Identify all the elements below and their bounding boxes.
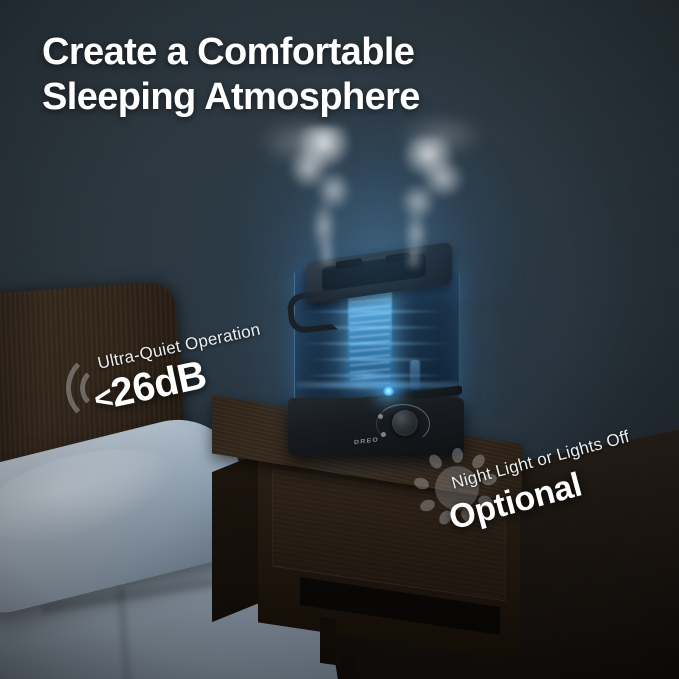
sun-ray — [427, 452, 445, 471]
page-title: Create a Comfortable Sleeping Atmosphere — [42, 30, 602, 120]
headline-line-2: Sleeping Atmosphere — [42, 75, 602, 120]
headline-line-1: Create a Comfortable — [42, 30, 602, 75]
sun-ray — [452, 448, 463, 463]
callout-night-light: Night Light or Lights Off Optional — [418, 438, 679, 538]
sun-ray — [419, 498, 437, 513]
callout-ultra-quiet: Ultra-Quiet Operation <26dB — [60, 340, 320, 430]
product-marketing-image: DREO Ultra-Quiet Operation <26dB — [0, 0, 679, 679]
